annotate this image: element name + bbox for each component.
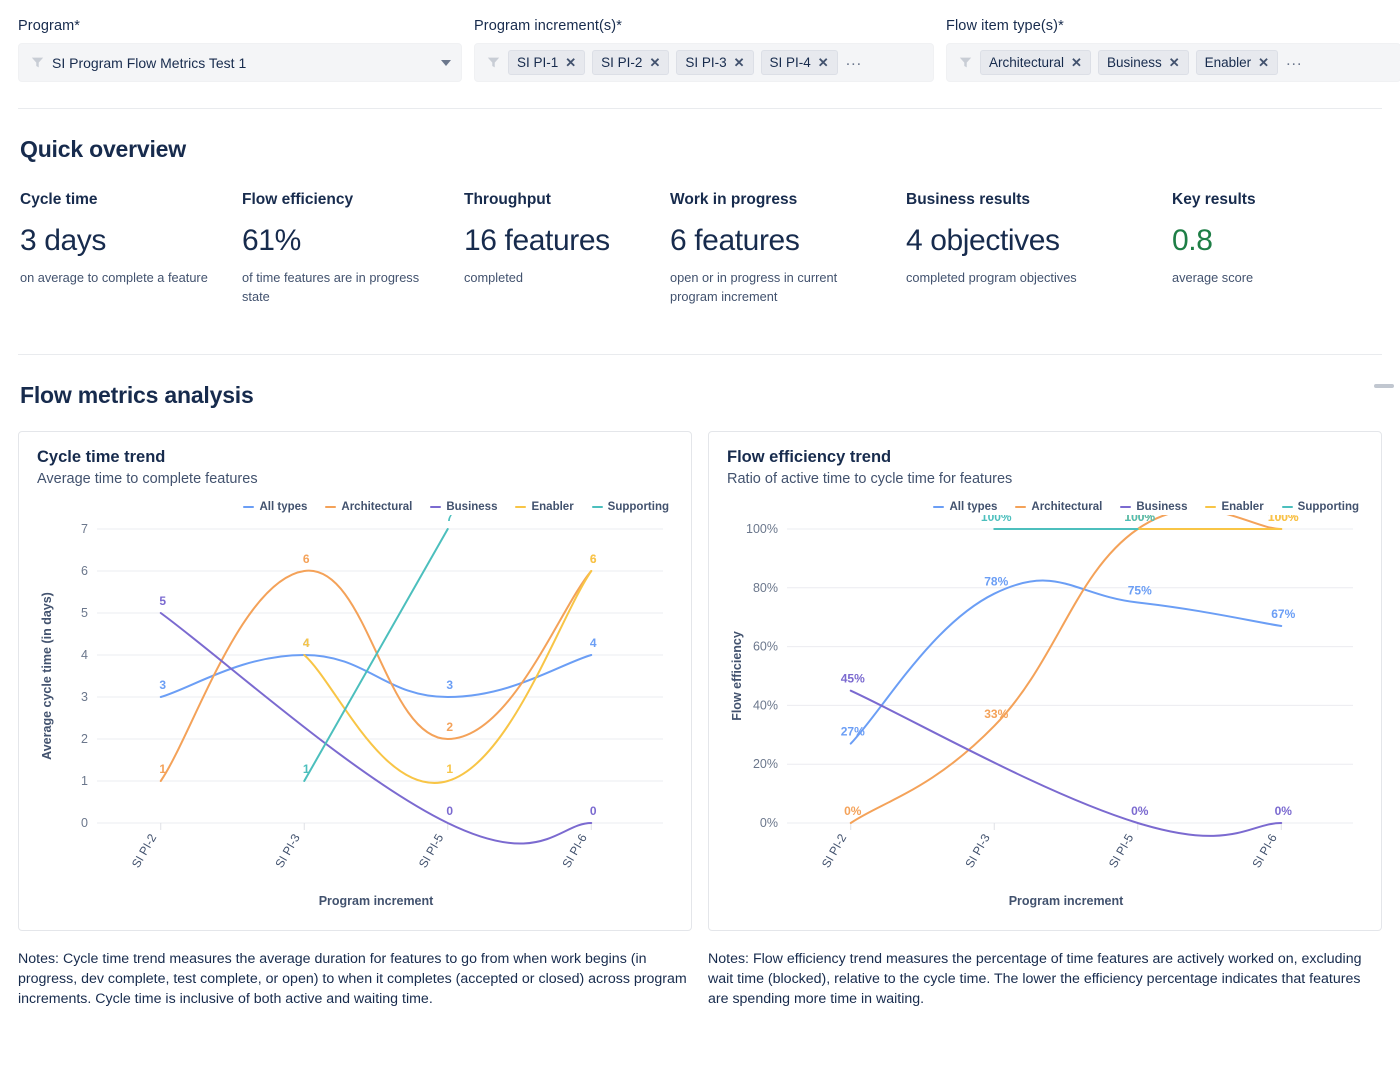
flow-item-types-select[interactable]: Architectural✕Business✕Enabler✕ ...: [946, 43, 1400, 82]
flow-item-type-chip[interactable]: Architectural✕: [980, 50, 1091, 75]
charts-row: Cycle time trend Average time to complet…: [0, 431, 1400, 931]
stat-description: completed: [464, 269, 650, 288]
flow-efficiency-trend-card: Flow efficiency trend Ratio of active ti…: [708, 431, 1382, 931]
data-point-label: 1: [446, 762, 453, 776]
data-point-label: 100%: [1268, 515, 1299, 524]
stat-label: Throughput: [464, 191, 650, 209]
legend-item[interactable]: Architectural: [325, 501, 412, 513]
divider-top: [18, 108, 1382, 109]
stat-description: on average to complete a feature: [20, 269, 222, 288]
vertical-scrollbar[interactable]: [1391, 382, 1398, 582]
stat-card: Work in progress6 featuresopen or in pro…: [670, 191, 906, 306]
stat-description: open or in progress in current program i…: [670, 269, 886, 306]
x-axis-title: Program increment: [319, 894, 434, 908]
program-increment-chip-label: SI PI-1: [517, 55, 558, 70]
chevron-down-icon[interactable]: [441, 60, 451, 66]
filter-funnel-icon: [31, 56, 44, 69]
stat-description: of time features are in progress state: [242, 269, 444, 306]
stat-label: Key results: [1172, 191, 1312, 209]
legend-label: Business: [446, 501, 497, 513]
flow-item-type-chip-label: Business: [1107, 55, 1162, 70]
y-axis-tick-label: 7: [81, 522, 88, 536]
quick-overview-stats: Cycle time3 dayson average to complete a…: [20, 191, 1400, 306]
program-increments-filter-label: Program increment(s)*: [474, 18, 934, 34]
y-axis-tick-label: 0%: [760, 816, 778, 830]
stat-description: completed program objectives: [906, 269, 1152, 288]
y-axis-tick-label: 4: [81, 648, 88, 662]
data-point-label: 1: [303, 762, 310, 776]
program-filter-label: Program*: [18, 18, 462, 34]
program-select[interactable]: SI Program Flow Metrics Test 1: [18, 43, 462, 82]
y-axis-tick-label: 0: [81, 816, 88, 830]
divider-middle: [18, 354, 1382, 355]
legend-item[interactable]: Enabler: [515, 501, 573, 513]
program-increment-chip-label: SI PI-3: [685, 55, 726, 70]
data-point-label: 0%: [844, 804, 862, 818]
y-axis-tick-label: 1: [81, 774, 88, 788]
y-axis-tick-label: 5: [81, 606, 88, 620]
y-axis-tick-label: 100%: [746, 522, 778, 536]
stat-value: 0.8: [1172, 224, 1312, 258]
legend-item[interactable]: Business: [430, 501, 497, 513]
data-point-label: 4: [303, 636, 310, 650]
program-increment-chip-list: SI PI-1✕SI PI-2✕SI PI-3✕SI PI-4✕: [508, 50, 838, 75]
flow-efficiency-trend-legend: All typesArchitecturalBusinessEnablerSup…: [727, 501, 1363, 513]
stat-label: Business results: [906, 191, 1152, 209]
filter-funnel-icon: [959, 56, 972, 69]
x-axis-tick-label: SI PI-3: [962, 831, 993, 870]
stat-description: average score: [1172, 269, 1312, 288]
data-point-label: 5: [159, 594, 166, 608]
scrollbar-thumb[interactable]: [1374, 384, 1394, 388]
data-point-label: 1: [159, 762, 166, 776]
program-increment-chip-label: SI PI-4: [770, 55, 811, 70]
cycle-time-trend-card: Cycle time trend Average time to complet…: [18, 431, 692, 931]
flow-item-types-filter-label: Flow item type(s)*: [946, 18, 1400, 34]
data-point-label: 33%: [984, 707, 1008, 721]
program-increment-chip[interactable]: SI PI-3✕: [676, 50, 753, 75]
legend-item[interactable]: All types: [243, 501, 307, 513]
y-axis-tick-label: 80%: [753, 581, 778, 595]
x-axis-tick-label: SI PI-6: [1249, 831, 1280, 870]
legend-label: Supporting: [1298, 501, 1359, 513]
y-axis-tick-label: 60%: [753, 640, 778, 654]
chart-svg: 0%20%40%60%80%100%SI PI-2SI PI-3SI PI-5S…: [727, 515, 1371, 915]
legend-label: All types: [259, 501, 307, 513]
cycle-time-trend-subtitle: Average time to complete features: [37, 471, 673, 487]
x-axis-tick-label: SI PI-3: [272, 831, 303, 870]
x-axis-title: Program increment: [1009, 894, 1124, 908]
y-axis-tick-label: 6: [81, 564, 88, 578]
y-axis-tick-label: 2: [81, 732, 88, 746]
legend-item[interactable]: Business: [1120, 501, 1187, 513]
flow-item-type-chip-label: Architectural: [989, 55, 1064, 70]
data-point-label: 100%: [1124, 515, 1155, 524]
program-increment-chip[interactable]: SI PI-2✕: [592, 50, 669, 75]
series-line: [851, 581, 1282, 744]
flow-efficiency-trend-subtitle: Ratio of active time to cycle time for f…: [727, 471, 1363, 487]
x-axis-tick-label: SI PI-5: [416, 831, 447, 870]
stat-label: Work in progress: [670, 191, 886, 209]
series-line: [851, 515, 1282, 823]
stat-card: Key results0.8average score: [1172, 191, 1332, 306]
legend-color-swatch: [1120, 506, 1131, 508]
flow-item-type-chip[interactable]: Business✕: [1098, 50, 1189, 75]
data-point-label: 27%: [841, 725, 865, 739]
data-point-label: 0: [446, 804, 453, 818]
legend-color-swatch: [1282, 506, 1293, 508]
data-point-label: 100%: [981, 515, 1012, 524]
legend-color-swatch: [933, 506, 944, 508]
data-point-label: 6: [590, 552, 597, 566]
legend-item[interactable]: Supporting: [592, 501, 669, 513]
legend-item[interactable]: Enabler: [1205, 501, 1263, 513]
data-point-label: 7: [446, 515, 453, 524]
data-point-label: 3: [159, 678, 166, 692]
legend-label: All types: [949, 501, 997, 513]
stat-value: 61%: [242, 224, 444, 258]
data-point-label: 3: [446, 678, 453, 692]
stat-card: Cycle time3 dayson average to complete a…: [20, 191, 242, 306]
stat-card: Business results4 objectivescompleted pr…: [906, 191, 1172, 306]
x-axis-tick-label: SI PI-2: [129, 831, 160, 870]
data-point-label: 75%: [1128, 584, 1152, 598]
data-point-label: 67%: [1271, 607, 1295, 621]
y-axis-title: Average cycle time (in days): [40, 592, 54, 760]
legend-color-swatch: [515, 506, 526, 508]
series-line: [304, 571, 591, 783]
stat-value: 6 features: [670, 224, 886, 258]
chart-svg: 01234567SI PI-2SI PI-3SI PI-5SI PI-6Aver…: [37, 515, 681, 915]
legend-color-swatch: [1205, 506, 1216, 508]
flow-efficiency-trend-plot: 0%20%40%60%80%100%SI PI-2SI PI-3SI PI-5S…: [727, 515, 1363, 920]
cycle-time-trend-note: Notes: Cycle time trend measures the ave…: [18, 949, 692, 1009]
data-point-label: 78%: [984, 575, 1008, 589]
data-point-label: 0: [590, 804, 597, 818]
legend-item[interactable]: All types: [933, 501, 997, 513]
program-selected-value: SI Program Flow Metrics Test 1: [52, 55, 433, 71]
program-increments-select[interactable]: SI PI-1✕SI PI-2✕SI PI-3✕SI PI-4✕ ...: [474, 43, 934, 82]
stat-value: 4 objectives: [906, 224, 1152, 258]
legend-color-swatch: [592, 506, 603, 508]
flow-efficiency-trend-note: Notes: Flow efficiency trend measures th…: [708, 949, 1382, 1009]
chart-notes-row: Notes: Cycle time trend measures the ave…: [0, 949, 1400, 1009]
data-point-label: 45%: [841, 672, 865, 686]
close-icon[interactable]: ✕: [1169, 56, 1180, 69]
x-axis-tick-label: SI PI-5: [1106, 831, 1137, 870]
y-axis-tick-label: 3: [81, 690, 88, 704]
legend-label: Enabler: [531, 501, 573, 513]
flow-item-type-chip[interactable]: Enabler✕: [1196, 50, 1278, 75]
data-point-label: 0%: [1275, 804, 1293, 818]
filter-bar: Program* SI Program Flow Metrics Test 1 …: [0, 0, 1400, 82]
filter-group-program-increments: Program increment(s)* SI PI-1✕SI PI-2✕SI…: [474, 18, 934, 82]
close-icon[interactable]: ✕: [565, 56, 576, 69]
legend-color-swatch: [243, 506, 254, 508]
data-point-label: 4: [590, 636, 597, 650]
filter-group-program: Program* SI Program Flow Metrics Test 1: [18, 18, 462, 82]
cycle-time-trend-plot: 01234567SI PI-2SI PI-3SI PI-5SI PI-6Aver…: [37, 515, 673, 920]
data-point-label: 2: [446, 720, 453, 734]
legend-color-swatch: [325, 506, 336, 508]
legend-label: Architectural: [341, 501, 412, 513]
x-axis-tick-label: SI PI-2: [819, 831, 850, 870]
series-line: [161, 613, 592, 844]
y-axis-tick-label: 20%: [753, 757, 778, 771]
filter-funnel-icon: [487, 56, 500, 69]
data-point-label: 6: [303, 552, 310, 566]
y-axis-title: Flow efficiency: [730, 631, 744, 721]
stat-label: Cycle time: [20, 191, 222, 209]
close-icon[interactable]: ✕: [1258, 56, 1269, 69]
flow-item-types-overflow[interactable]: ...: [1286, 52, 1302, 74]
program-increment-chip[interactable]: SI PI-1✕: [508, 50, 585, 75]
data-point-label: 0%: [1131, 804, 1149, 818]
close-icon[interactable]: ✕: [649, 56, 660, 69]
legend-item[interactable]: Architectural: [1015, 501, 1102, 513]
filter-group-flow-item-types: Flow item type(s)* Architectural✕Busines…: [946, 18, 1400, 82]
flow-item-type-chip-label: Enabler: [1205, 55, 1252, 70]
legend-label: Enabler: [1221, 501, 1263, 513]
quick-overview-title: Quick overview: [20, 136, 1400, 163]
cycle-time-trend-legend: All typesArchitecturalBusinessEnablerSup…: [37, 501, 673, 513]
stat-card: Flow efficiency61%of time features are i…: [242, 191, 464, 306]
series-line: [851, 691, 1282, 836]
legend-color-swatch: [430, 506, 441, 508]
program-increment-chip[interactable]: SI PI-4✕: [761, 50, 838, 75]
legend-label: Architectural: [1031, 501, 1102, 513]
legend-item[interactable]: Supporting: [1282, 501, 1359, 513]
y-axis-tick-label: 40%: [753, 698, 778, 712]
cycle-time-trend-title: Cycle time trend: [37, 448, 673, 467]
legend-label: Business: [1136, 501, 1187, 513]
x-axis-tick-label: SI PI-6: [559, 831, 590, 870]
legend-color-swatch: [1015, 506, 1026, 508]
flow-metrics-analysis-title: Flow metrics analysis: [20, 382, 1400, 409]
flow-efficiency-trend-title: Flow efficiency trend: [727, 448, 1363, 467]
stat-card: Throughput16 featurescompleted: [464, 191, 670, 306]
close-icon[interactable]: ✕: [1071, 56, 1082, 69]
flow-item-type-chip-list: Architectural✕Business✕Enabler✕: [980, 50, 1278, 75]
stat-value: 16 features: [464, 224, 650, 258]
flow-metrics-analysis-section: Flow metrics analysis Cycle time trend A…: [0, 382, 1400, 1009]
program-increments-overflow[interactable]: ...: [846, 52, 862, 74]
close-icon[interactable]: ✕: [734, 56, 745, 69]
program-increment-chip-label: SI PI-2: [601, 55, 642, 70]
stat-value: 3 days: [20, 224, 222, 258]
legend-label: Supporting: [608, 501, 669, 513]
stat-label: Flow efficiency: [242, 191, 444, 209]
close-icon[interactable]: ✕: [818, 56, 829, 69]
